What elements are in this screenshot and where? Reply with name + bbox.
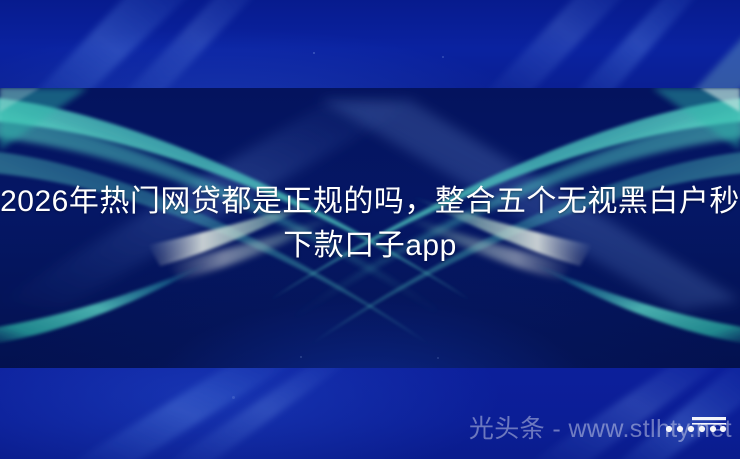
sparkle-dot: [313, 52, 315, 54]
sparkle-dot: [442, 56, 444, 58]
sparkle-dot: [232, 396, 235, 399]
sparkle-dot: [437, 357, 439, 359]
sparkle-dot: [300, 356, 302, 358]
dotted-bar-overlay-icon: [666, 416, 728, 442]
top-band: [0, 0, 740, 88]
page-title: 2026年热门网贷都是正规的吗，整合五个无视黑白户秒下款口子app: [0, 180, 740, 268]
banner-image: 2026年热门网贷都是正规的吗，整合五个无视黑白户秒下款口子app 光头条 - …: [0, 0, 740, 459]
